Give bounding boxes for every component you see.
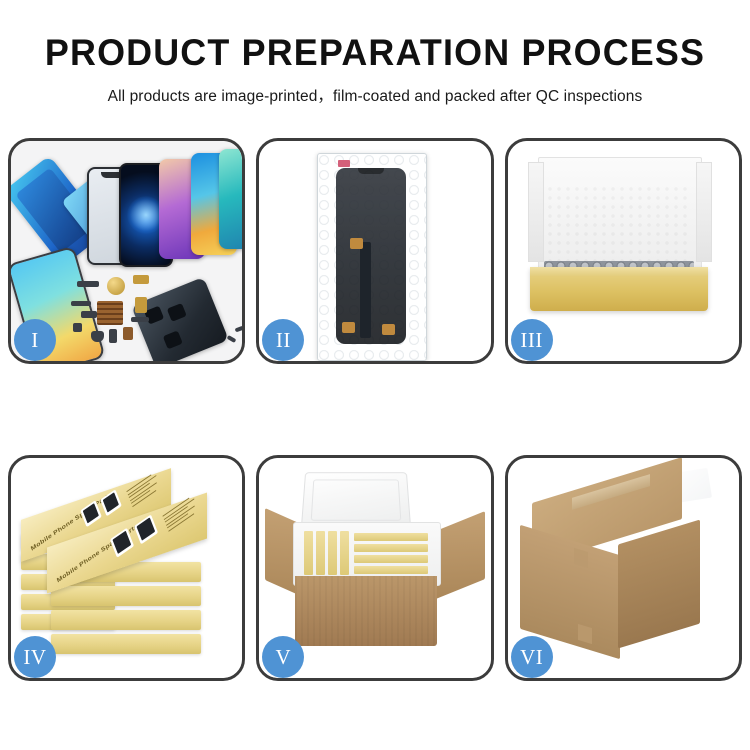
step-badge-1: I [14,319,56,361]
page-subtitle: All products are image-printed，film-coat… [0,84,750,106]
step-card-6[interactable]: VI [505,455,742,681]
step-card-3[interactable]: III [505,138,742,364]
steps-grid: I II III [8,138,742,681]
step-badge-4: IV [14,636,56,678]
step-card-4[interactable]: Mobile Phone Spare Parts Mobile Phone Sp… [8,455,245,681]
step-card-5[interactable]: V [256,455,493,681]
step-badge-6: VI [511,636,553,678]
step-card-2[interactable]: II [256,138,493,364]
page-title: PRODUCT PREPARATION PROCESS [11,34,739,73]
step-badge-3: III [511,319,553,361]
product-preparation-infographic: PRODUCT PREPARATION PROCESS All products… [0,0,750,750]
step-card-1[interactable]: I [8,138,245,364]
header: PRODUCT PREPARATION PROCESS All products… [0,0,750,106]
